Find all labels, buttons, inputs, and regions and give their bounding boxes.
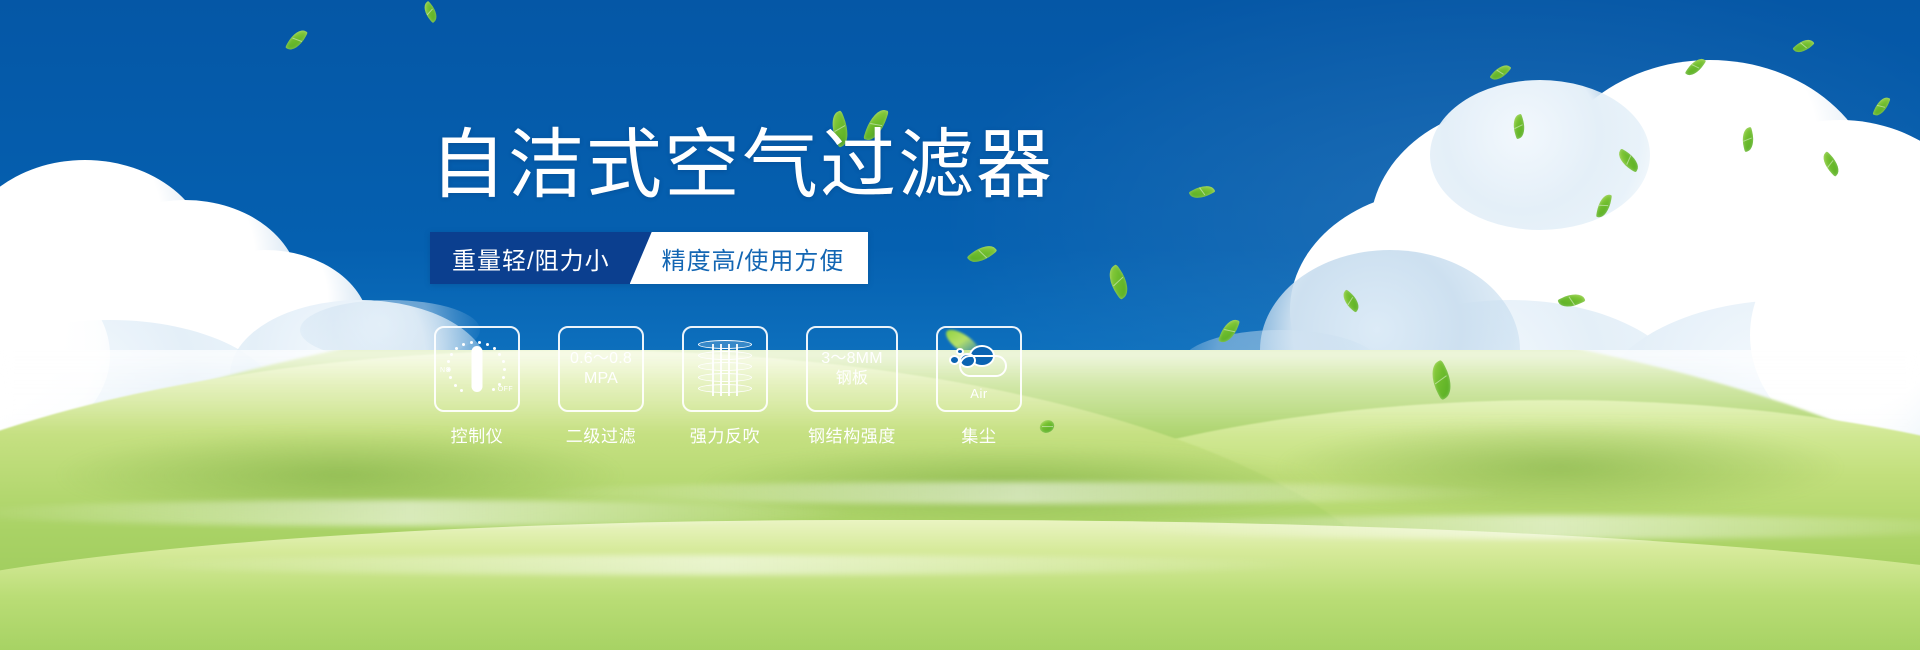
badge-precision-convenience[interactable]: 精度高/使用方便 [630, 232, 869, 284]
feature-box-steel: 3～8MM 钢板 [806, 326, 898, 412]
feature-label-dust: 集尘 [961, 422, 996, 447]
gauge-icon: NO OFF [441, 336, 513, 402]
feature-item-steel[interactable]: 3～8MM 钢板 钢结构强度 [806, 326, 898, 447]
banner-content: 自洁式空气过滤器 重量轻/阻力小 精度高/使用方便 [0, 0, 1920, 650]
feature-box-pressure: 0.6～0.8 MPA [558, 326, 644, 412]
steel-thickness: 3～8MM [821, 349, 882, 369]
page-title: 自洁式空气过滤器 [430, 128, 1054, 204]
feature-box-dust: Air [936, 326, 1022, 412]
cartridge-icon [698, 340, 752, 398]
feature-box-controller: NO OFF [434, 326, 520, 412]
gauge-off-label: OFF [498, 386, 513, 393]
feature-box-blowback [682, 326, 768, 412]
feature-label-pressure: 二级过滤 [566, 422, 636, 447]
steel-material: 钢板 [836, 369, 868, 389]
air-cloud-icon: Air [947, 341, 1011, 397]
pressure-value: 0.6～0.8 [570, 349, 632, 369]
pressure-unit: MPA [584, 369, 618, 389]
feature-item-dust[interactable]: Air 集尘 [936, 326, 1022, 447]
feature-item-blowback[interactable]: 强力反吹 [682, 326, 768, 447]
feature-item-controller[interactable]: NO OFF 控制仪 [434, 326, 520, 447]
badge-weight-resistance[interactable]: 重量轻/阻力小 [430, 232, 652, 284]
air-label: Air [947, 386, 1011, 401]
feature-label-controller: 控制仪 [451, 422, 504, 447]
feature-badge-group: 重量轻/阻力小 精度高/使用方便 [430, 232, 868, 284]
gauge-on-label: NO [440, 367, 451, 374]
feature-item-pressure[interactable]: 0.6～0.8 MPA 二级过滤 [558, 326, 644, 447]
feature-label-steel: 钢结构强度 [808, 422, 896, 447]
feature-icon-row: NO OFF 控制仪 0.6～0.8 MPA 二级过滤 [434, 326, 1022, 447]
product-banner: 自洁式空气过滤器 重量轻/阻力小 精度高/使用方便 [0, 0, 1920, 650]
feature-label-blowback: 强力反吹 [690, 422, 760, 447]
